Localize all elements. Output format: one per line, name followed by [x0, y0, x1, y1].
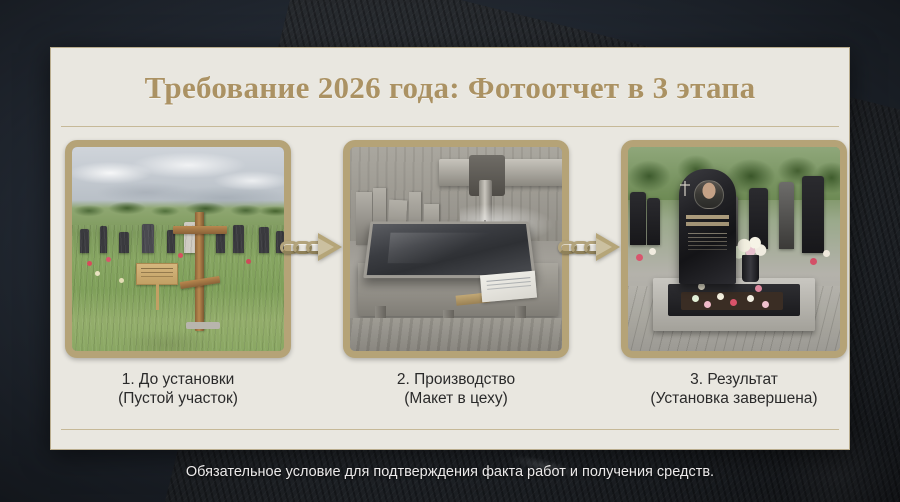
stage-2-caption-sub: (Макет в цеху)	[397, 389, 515, 408]
blueprint-papers	[480, 271, 537, 302]
engraved-portrait	[694, 180, 724, 210]
footer-note: Обязательное условие для подтверждения ф…	[0, 464, 900, 480]
wooden-sign-plaque	[136, 263, 178, 285]
divider-above-card-bottom	[61, 429, 839, 430]
stage-2-photo-frame	[343, 140, 569, 358]
connector-2	[569, 140, 621, 358]
stage-2: 2. Производство (Макет в цеху)	[343, 140, 569, 408]
arrow-right-icon	[318, 233, 342, 261]
workshop-floor	[350, 318, 562, 351]
granite-monument-stele	[679, 169, 736, 283]
arrow-right-icon	[596, 233, 620, 261]
stage-2-caption: 2. Производство (Макет в цеху)	[397, 370, 515, 408]
stages-row: 1. До установки (Пустой участок)	[65, 140, 835, 408]
stage-3-caption-sub: (Установка завершена)	[650, 389, 817, 408]
granite-vase	[742, 255, 759, 282]
engraved-name	[686, 215, 730, 219]
grass-texture	[72, 225, 284, 351]
divider-under-title	[61, 126, 839, 127]
stage-3-photo-frame	[621, 140, 847, 358]
stage-3-caption-main: 3. Результат	[690, 371, 778, 388]
chain-arrow-icon	[569, 230, 621, 264]
wooden-orthodox-cross	[195, 212, 204, 330]
stage-3: 3. Результат (Установка завершена)	[621, 140, 847, 408]
engraved-inscription	[688, 233, 727, 234]
stage-2-caption-main: 2. Производство	[397, 371, 515, 388]
stage-1-caption: 1. До установки (Пустой участок)	[118, 370, 238, 408]
page-title: Требование 2026 года: Фотоотчет в 3 этап…	[51, 70, 849, 106]
cross-base	[186, 322, 220, 329]
content-card: Требование 2026 года: Фотоотчет в 3 этап…	[50, 47, 850, 450]
slide-root: Требование 2026 года: Фотоотчет в 3 этап…	[0, 0, 900, 502]
stage-1-caption-sub: (Пустой участок)	[118, 389, 238, 408]
chain-arrow-icon	[291, 230, 343, 264]
stage-1: 1. До установки (Пустой участок)	[65, 140, 291, 408]
stage-1-photo-frame	[65, 140, 291, 358]
photo-installed-monument	[628, 147, 840, 351]
stage-3-caption: 3. Результат (Установка завершена)	[650, 370, 817, 408]
granite-slab	[363, 222, 536, 279]
engraved-cross-icon	[684, 181, 686, 196]
connector-1	[291, 140, 343, 358]
photo-workshop-production	[350, 147, 562, 351]
stage-1-caption-main: 1. До установки	[122, 371, 235, 388]
photo-empty-plot	[72, 147, 284, 351]
